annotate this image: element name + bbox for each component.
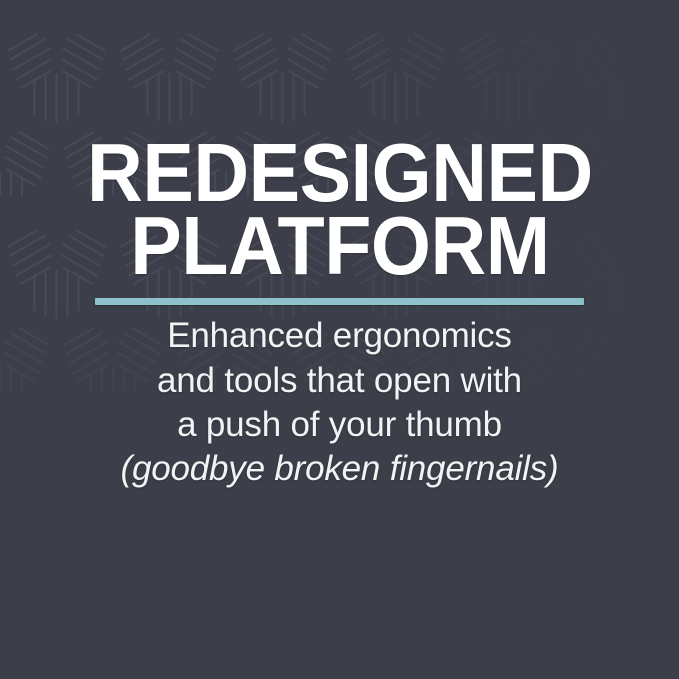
subtitle-line-3: a push of your thumb (120, 403, 558, 447)
accent-divider (95, 298, 584, 305)
subtitle-line-1: Enhanced ergonomics (120, 314, 558, 358)
subtitle-line-2: and tools that open with (120, 359, 558, 403)
page-title: REDESIGNED PLATFORM (68, 136, 612, 283)
poster-content: REDESIGNED PLATFORM Enhanced ergonomics … (0, 0, 679, 679)
headline-line-2: PLATFORM (87, 209, 593, 284)
subtitle: Enhanced ergonomics and tools that open … (120, 305, 558, 491)
subtitle-line-4-parenthetical: (goodbye broken fingernails) (120, 447, 558, 491)
product-feature-poster: REDESIGNED PLATFORM Enhanced ergonomics … (0, 0, 679, 679)
